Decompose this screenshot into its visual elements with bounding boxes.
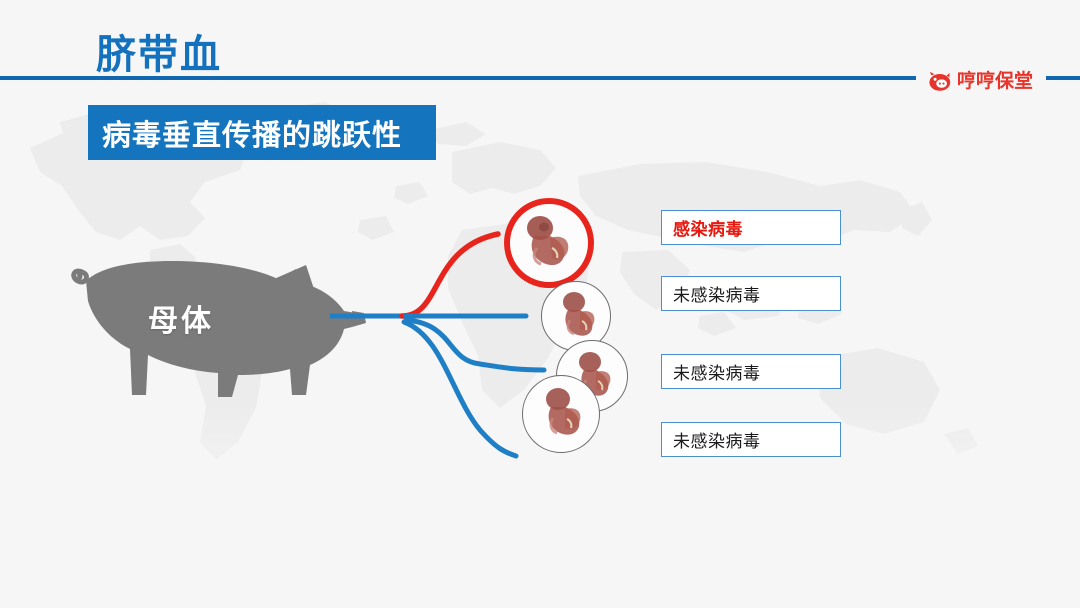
label-box-uninfected-3[interactable]: 未感染病毒	[661, 422, 841, 457]
label-box-uninfected-1[interactable]: 未感染病毒	[661, 276, 841, 311]
slide-canvas: 脐带血 哼哼保堂 病毒垂直传播的跳跃性	[0, 0, 1080, 608]
label-text: 未感染病毒	[673, 359, 761, 384]
subtitle-text: 病毒垂直传播的跳跃性	[102, 112, 402, 154]
fetus-icon-uninfected-3	[522, 375, 600, 453]
mother-label: 母体	[148, 296, 214, 340]
page-title: 脐带血	[96, 22, 222, 80]
fetus-icon-infected	[504, 198, 594, 288]
brand-logo-text: 哼哼保堂	[957, 72, 1033, 91]
label-box-uninfected-2[interactable]: 未感染病毒	[661, 354, 841, 389]
brand-logo: 哼哼保堂	[928, 68, 1033, 94]
label-text: 未感染病毒	[673, 281, 761, 306]
label-text: 感染病毒	[673, 215, 743, 240]
subtitle-banner: 病毒垂直传播的跳跃性	[88, 105, 436, 160]
label-box-infected[interactable]: 感染病毒	[661, 210, 841, 245]
pig-face-icon	[928, 71, 952, 92]
label-text: 未感染病毒	[673, 427, 761, 452]
